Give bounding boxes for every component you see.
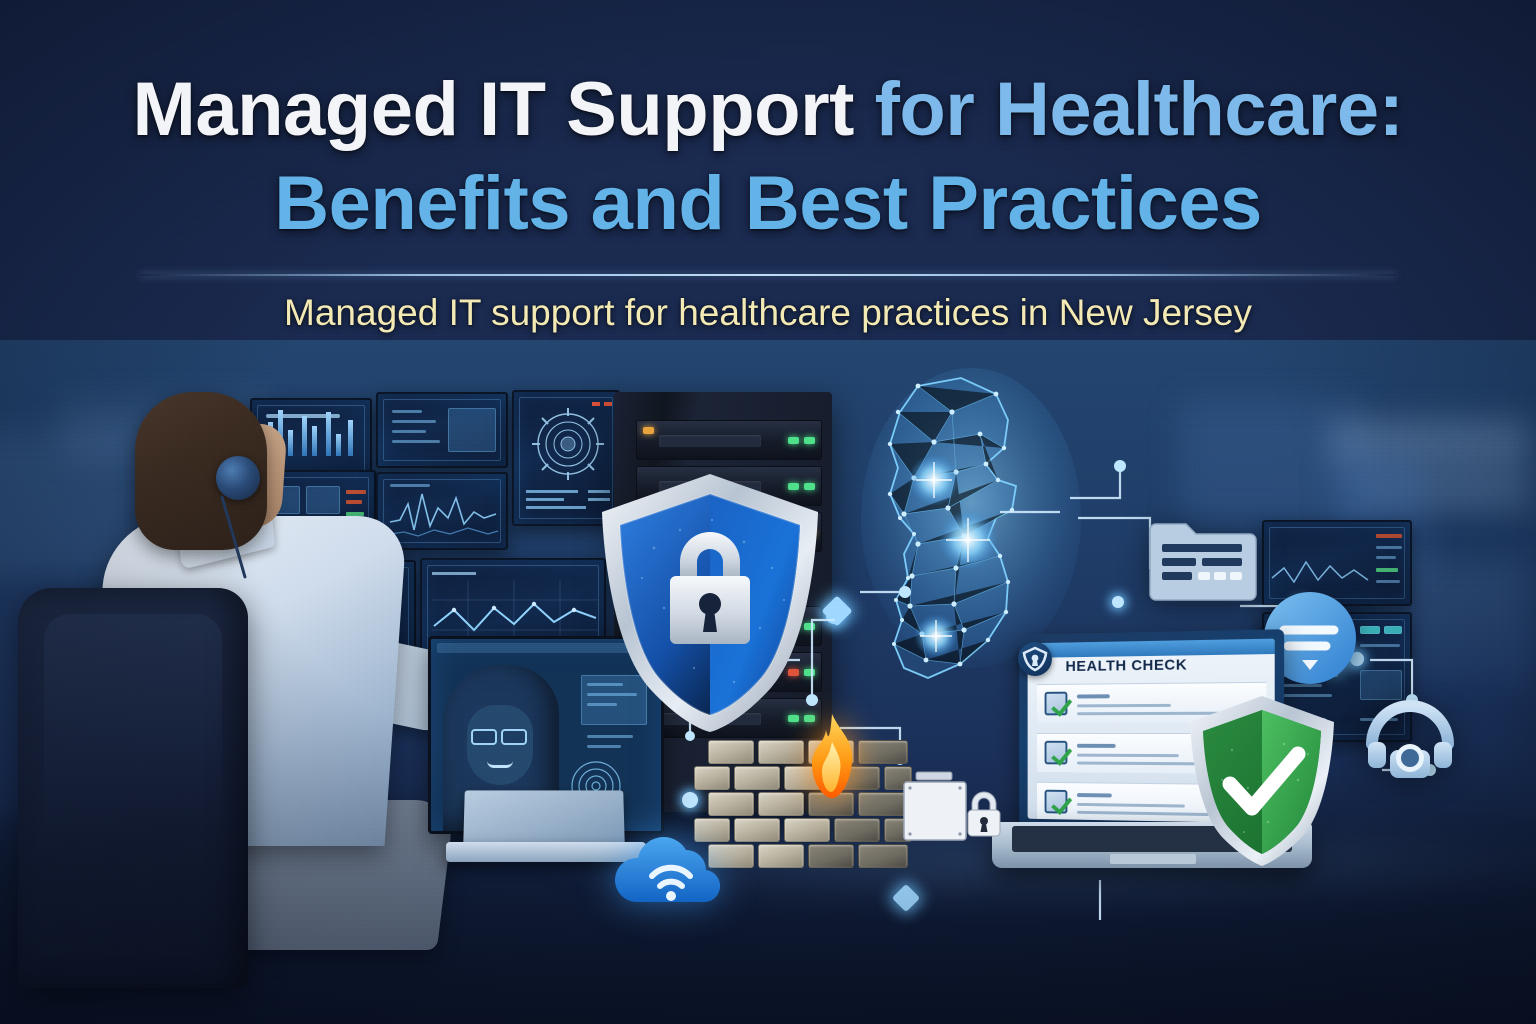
cloud-wifi-icon (600, 826, 740, 910)
title-part-healthcare: for Healthcare: (875, 67, 1404, 152)
document-icon (902, 770, 968, 842)
page-subtitle: Managed IT support for healthcare practi… (0, 292, 1536, 334)
shield-lock-icon (594, 468, 826, 738)
banner-header: Managed IT Support for Healthcare: Benef… (0, 0, 1536, 350)
screen-titlebar (1028, 639, 1275, 658)
hacker-glasses-left (471, 729, 497, 745)
checkbox-checked-icon[interactable] (1045, 790, 1068, 814)
checkbox-checked-icon[interactable] (1045, 692, 1068, 716)
hacker-face (467, 705, 533, 785)
hero-banner: HEALTH CHECK (0, 0, 1536, 1024)
hacker-smile (487, 761, 513, 768)
shield-check-svg (1186, 692, 1338, 870)
page-title-line1: Managed IT Support for Healthcare: (0, 72, 1536, 148)
shield-check-icon (1186, 692, 1338, 870)
health-check-title: HEALTH CHECK (1065, 656, 1187, 675)
checkbox-checked-icon[interactable] (1045, 741, 1068, 765)
network-node-2 (682, 792, 698, 808)
office-blur-right6 (1180, 400, 1360, 520)
hacker-glasses-right (501, 729, 527, 745)
hacker-screen-row5 (587, 745, 621, 748)
padlock-icon (962, 788, 1006, 840)
title-part-managed: Managed IT Support (133, 67, 875, 152)
flame-icon (806, 712, 858, 800)
support-headset-icon (1364, 700, 1456, 780)
folder-records-icon (1148, 516, 1258, 602)
network-node-4 (1112, 596, 1124, 608)
header-divider (140, 274, 1396, 276)
shield-badge-icon (1018, 642, 1052, 676)
page-title-line2: Benefits and Best Practices (0, 166, 1536, 242)
laptop-trackpad[interactable] (1110, 854, 1196, 864)
monitor-dashboard (376, 392, 508, 468)
shield-lock-svg (594, 468, 826, 738)
office-chair (18, 588, 248, 988)
headset-earcup (216, 456, 260, 500)
